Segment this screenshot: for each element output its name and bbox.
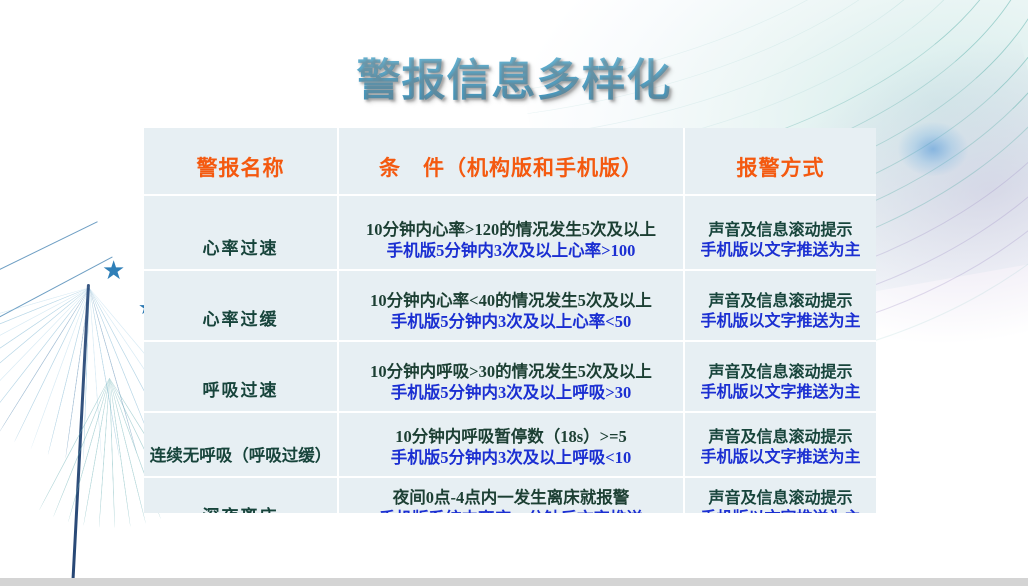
- slide-canvas: ★ ★: [0, 0, 1028, 578]
- alert-sub-line: 手机版以文字推送为主: [689, 241, 872, 265]
- header-cell-alarm-name: 警报名称: [144, 128, 339, 196]
- cell-alert-method: 声音及信息滚动提示 手机版以文字推送为主: [685, 413, 876, 478]
- cell-condition: 夜间0点-4点内一发生离床就报警 手机版系统中离床20分钟后文字推送: [339, 478, 685, 513]
- alarm-name-label: 连续无呼吸（呼吸过缓）: [148, 447, 333, 472]
- alert-main-line: 声音及信息滚动提示: [689, 292, 872, 312]
- alarm-name-label: 心率过速: [148, 239, 333, 265]
- cell-alert-method: 声音及信息滚动提示 手机版以文字推送为主: [685, 478, 876, 513]
- alert-main-line: 声音及信息滚动提示: [689, 428, 872, 448]
- cell-condition: 10分钟内呼吸>30的情况发生5次及以上 手机版5分钟内3次及以上呼吸>30: [339, 342, 685, 413]
- table-row: 心率过速 10分钟内心率>120的情况发生5次及以上 手机版5分钟内3次及以上心…: [144, 196, 876, 271]
- condition-main-line: 10分钟内呼吸>30的情况发生5次及以上: [343, 362, 679, 382]
- alarm-name-label: 深夜离床: [148, 507, 333, 513]
- table-row: 连续无呼吸（呼吸过缓） 10分钟内呼吸暂停数（18s）>=5 手机版5分钟内3次…: [144, 413, 876, 478]
- alarm-info-table: 警报名称 条 件（机构版和手机版） 报警方式 心率过速 10分钟内心率>120的…: [144, 128, 876, 513]
- table-header-row: 警报名称 条 件（机构版和手机版） 报警方式: [144, 128, 876, 196]
- cell-condition: 10分钟内心率<40的情况发生5次及以上 手机版5分钟内3次及以上心率<50: [339, 271, 685, 342]
- alert-sub-line: 手机版以文字推送为主: [689, 383, 872, 407]
- alarm-name-label: 呼吸过速: [148, 381, 333, 407]
- condition-sub-line: 手机版5分钟内3次及以上心率<50: [343, 312, 679, 336]
- cell-alert-method: 声音及信息滚动提示 手机版以文字推送为主: [685, 271, 876, 342]
- condition-sub-line: 手机版5分钟内3次及以上呼吸<10: [343, 448, 679, 472]
- condition-main-line: 10分钟内呼吸暂停数（18s）>=5: [343, 427, 679, 447]
- cell-alarm-name: 呼吸过速: [144, 342, 339, 413]
- bottom-status-bar: [0, 578, 1028, 586]
- table-row: 呼吸过速 10分钟内呼吸>30的情况发生5次及以上 手机版5分钟内3次及以上呼吸…: [144, 342, 876, 413]
- cell-alarm-name: 连续无呼吸（呼吸过缓）: [144, 413, 339, 478]
- alert-main-line: 声音及信息滚动提示: [689, 221, 872, 241]
- header-label-alarm-name: 警报名称: [148, 157, 333, 190]
- cell-alert-method: 声音及信息滚动提示 手机版以文字推送为主: [685, 196, 876, 271]
- table-row: 深夜离床 夜间0点-4点内一发生离床就报警 手机版系统中离床20分钟后文字推送 …: [144, 478, 876, 513]
- table-row: 心率过缓 10分钟内心率<40的情况发生5次及以上 手机版5分钟内3次及以上心率…: [144, 271, 876, 342]
- alert-sub-line: 手机版以文字推送为主: [689, 509, 872, 513]
- alert-sub-line: 手机版以文字推送为主: [689, 312, 872, 336]
- header-label-condition: 条 件（机构版和手机版）: [343, 157, 679, 190]
- cell-alarm-name: 心率过速: [144, 196, 339, 271]
- cell-alarm-name: 心率过缓: [144, 271, 339, 342]
- header-cell-alert-method: 报警方式: [685, 128, 876, 196]
- cell-alarm-name: 深夜离床: [144, 478, 339, 513]
- cell-condition: 10分钟内心率>120的情况发生5次及以上 手机版5分钟内3次及以上心率>100: [339, 196, 685, 271]
- condition-sub-line: 手机版系统中离床20分钟后文字推送: [343, 509, 679, 513]
- alert-sub-line: 手机版以文字推送为主: [689, 448, 872, 472]
- alarm-name-label: 心率过缓: [148, 310, 333, 336]
- condition-main-line: 夜间0点-4点内一发生离床就报警: [343, 488, 679, 508]
- table-clip-region: 警报名称 条 件（机构版和手机版） 报警方式 心率过速 10分钟内心率>120的…: [0, 0, 1028, 513]
- cell-alert-method: 声音及信息滚动提示 手机版以文字推送为主: [685, 342, 876, 413]
- condition-main-line: 10分钟内心率>120的情况发生5次及以上: [343, 220, 679, 240]
- condition-sub-line: 手机版5分钟内3次及以上呼吸>30: [343, 383, 679, 407]
- condition-sub-line: 手机版5分钟内3次及以上心率>100: [343, 241, 679, 265]
- header-cell-condition: 条 件（机构版和手机版）: [339, 128, 685, 196]
- alert-main-line: 声音及信息滚动提示: [689, 363, 872, 383]
- header-label-alert-method: 报警方式: [689, 157, 872, 190]
- alert-main-line: 声音及信息滚动提示: [689, 489, 872, 509]
- cell-condition: 10分钟内呼吸暂停数（18s）>=5 手机版5分钟内3次及以上呼吸<10: [339, 413, 685, 478]
- condition-main-line: 10分钟内心率<40的情况发生5次及以上: [343, 291, 679, 311]
